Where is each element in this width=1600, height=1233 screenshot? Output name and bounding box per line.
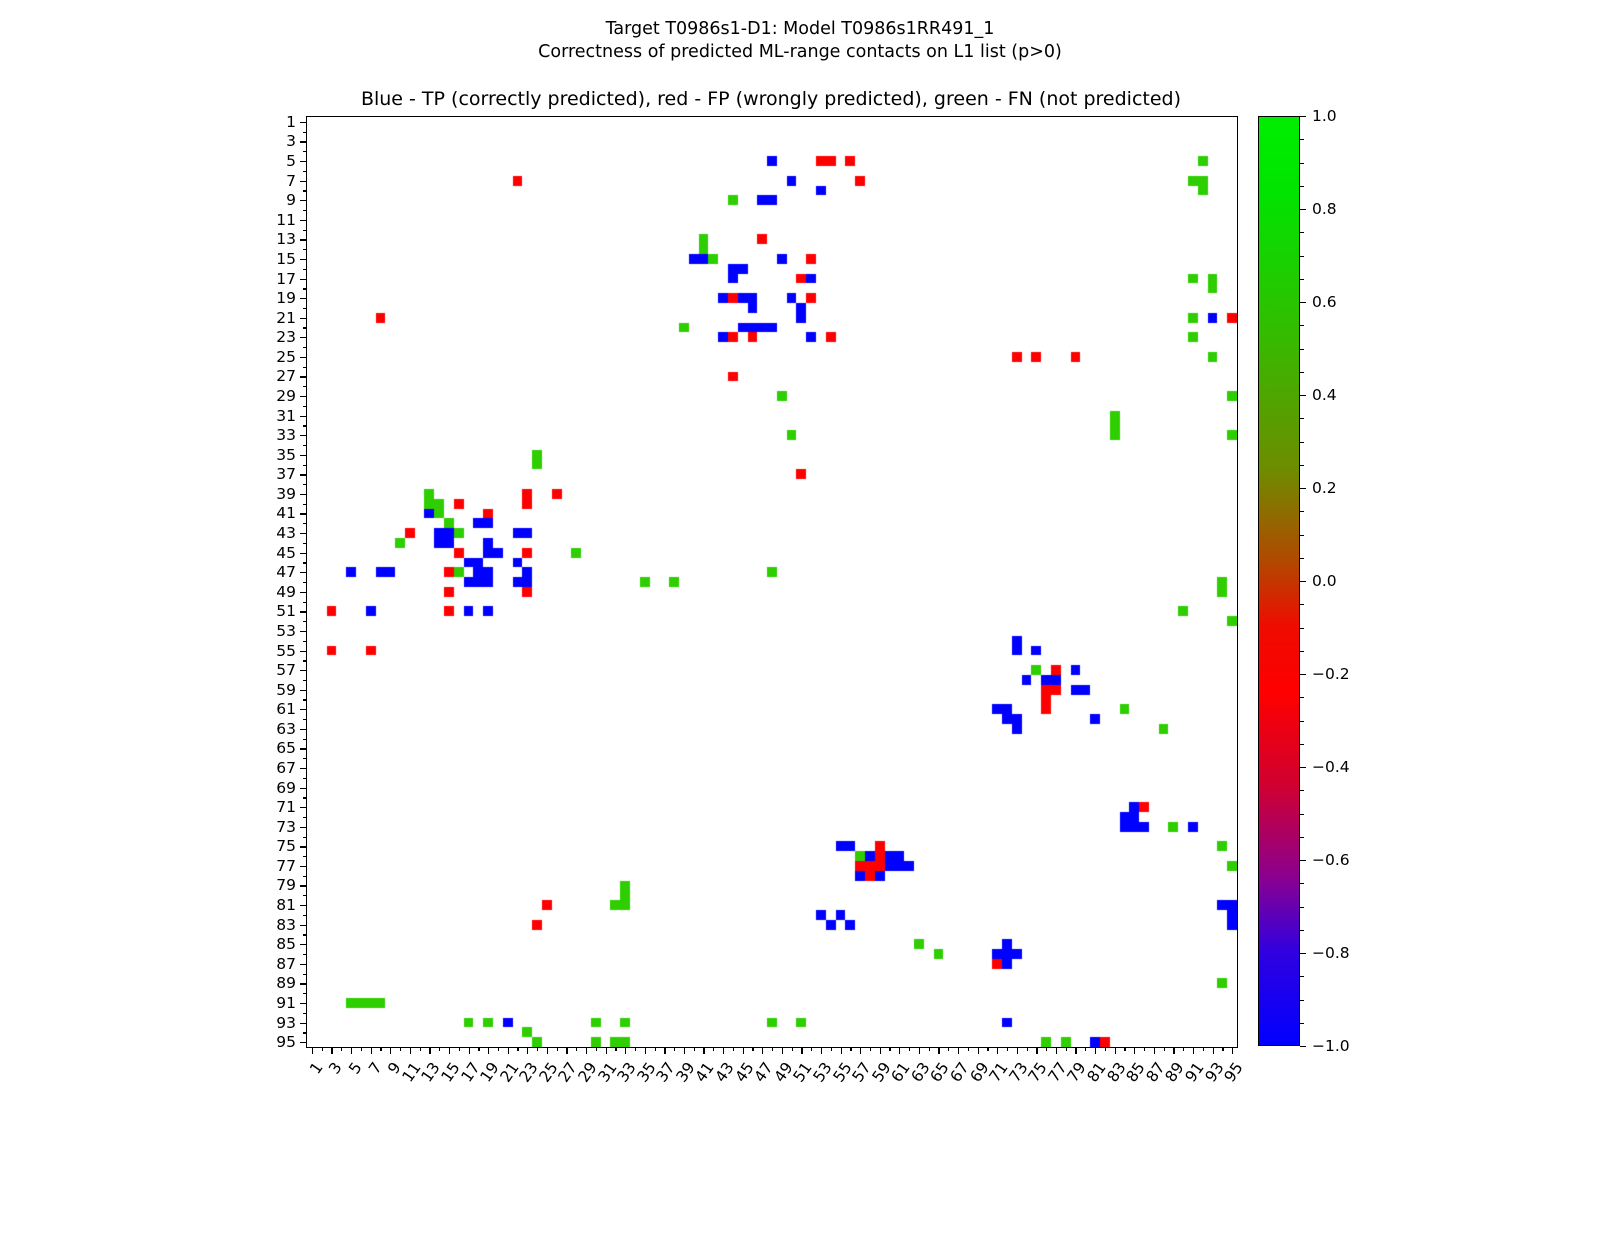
colorbar-minor-tick [1300, 651, 1304, 652]
y-axis-tick-label: 95 [276, 1033, 296, 1051]
colorbar-tick [1300, 488, 1306, 489]
x-axis-tick [625, 1047, 626, 1054]
colorbar-minor-tick [1300, 256, 1304, 257]
colorbar-minor-tick [1300, 232, 1304, 233]
y-axis-tick-label: 77 [276, 857, 296, 875]
y-axis-tick [303, 660, 307, 661]
y-axis-tick-label: 67 [276, 759, 296, 777]
x-axis-tick [478, 1047, 479, 1051]
y-axis-tick [300, 846, 307, 847]
y-axis-tick-label: 39 [276, 485, 296, 503]
y-axis-tick-label: 49 [276, 583, 296, 601]
colorbar-tick-label: 0.2 [1312, 479, 1337, 497]
y-axis-tick [303, 425, 307, 426]
x-axis-tick [1193, 1047, 1194, 1054]
y-axis-tick-label: 45 [276, 544, 296, 562]
y-axis-tick [300, 494, 307, 495]
colorbar-minor-tick [1300, 721, 1304, 722]
x-axis-tick [1154, 1047, 1155, 1054]
colorbar-tick [1300, 860, 1306, 861]
x-axis-tick [361, 1047, 362, 1051]
colorbar: 1.00.80.60.40.20.0−0.2−0.4−0.6−0.8−1.0 [1258, 116, 1300, 1046]
colorbar-tick [1300, 674, 1306, 675]
y-axis-tick [303, 797, 307, 798]
x-axis-tick [694, 1047, 695, 1051]
colorbar-tick-label: −0.2 [1312, 665, 1350, 683]
y-axis-tick-label: 79 [276, 876, 296, 894]
colorbar-tick-label: 0.6 [1312, 293, 1337, 311]
x-axis-tick [792, 1047, 793, 1051]
y-axis-tick [303, 347, 307, 348]
x-axis-tick [635, 1047, 636, 1051]
y-axis-tick [303, 288, 307, 289]
y-axis-tick [300, 709, 307, 710]
y-axis-tick [300, 690, 307, 691]
colorbar-tick [1300, 395, 1306, 396]
y-axis-tick [303, 406, 307, 407]
colorbar-minor-tick [1300, 604, 1304, 605]
colorbar-tick-label: −0.4 [1312, 758, 1350, 776]
y-axis-tick-label: 65 [276, 739, 296, 757]
y-axis-tick-label: 55 [276, 642, 296, 660]
colorbar-minor-tick [1300, 325, 1304, 326]
x-axis-tick [733, 1047, 734, 1051]
colorbar-minor-tick [1300, 535, 1304, 536]
y-axis-tick [303, 954, 307, 955]
y-axis-tick [303, 602, 307, 603]
y-axis-tick [300, 533, 307, 534]
y-axis-tick-label: 13 [276, 230, 296, 248]
y-axis-tick-label: 61 [276, 700, 296, 718]
y-axis-tick [300, 122, 307, 123]
x-axis-tick [831, 1047, 832, 1051]
y-axis-tick [300, 944, 307, 945]
x-axis-tick [517, 1047, 518, 1051]
y-axis-tick [300, 396, 307, 397]
x-axis-tick [1095, 1047, 1096, 1054]
colorbar-tick-label: −1.0 [1312, 1037, 1350, 1055]
x-axis-tick [929, 1047, 930, 1051]
x-axis-tick [978, 1047, 979, 1054]
x-axis-tick [870, 1047, 871, 1051]
y-axis-tick [300, 298, 307, 299]
y-axis-tick [303, 680, 307, 681]
x-axis-tick [782, 1047, 783, 1054]
colorbar-minor-tick [1300, 372, 1304, 373]
x-axis-tick [664, 1047, 665, 1054]
x-axis-tick [1036, 1047, 1037, 1054]
y-axis-tick-label: 91 [276, 994, 296, 1012]
x-axis-tick [811, 1047, 812, 1051]
y-axis-tick-label: 59 [276, 681, 296, 699]
y-axis-tick [300, 416, 307, 417]
x-axis-tick [576, 1047, 577, 1051]
x-axis-tick [645, 1047, 646, 1054]
y-axis-tick [303, 504, 307, 505]
figure-title-block: Target T0986s1-D1: Model T0986s1RR491_1 … [0, 18, 1600, 64]
x-axis-tick [713, 1047, 714, 1051]
y-axis-tick-label: 27 [276, 367, 296, 385]
x-axis-tick [459, 1047, 460, 1051]
colorbar-tick-label: 0.4 [1312, 386, 1337, 404]
y-axis-tick [303, 719, 307, 720]
x-axis-tick [1075, 1047, 1076, 1054]
y-axis-tick-label: 85 [276, 935, 296, 953]
figure-title-line-1: Target T0986s1-D1: Model T0986s1RR491_1 [0, 18, 1600, 41]
y-axis-tick [303, 171, 307, 172]
x-axis-tick [537, 1047, 538, 1051]
y-axis-tick [300, 827, 307, 828]
x-axis-tick [801, 1047, 802, 1054]
y-axis-tick [300, 964, 307, 965]
y-axis-tick [303, 386, 307, 387]
colorbar-minor-tick [1300, 139, 1304, 140]
colorbar-tick [1300, 1046, 1306, 1047]
y-axis-tick [300, 768, 307, 769]
x-axis-tick [1115, 1047, 1116, 1054]
x-axis-tick [420, 1047, 421, 1051]
y-axis-tick-label: 57 [276, 661, 296, 679]
colorbar-minor-tick [1300, 558, 1304, 559]
y-axis-tick [303, 915, 307, 916]
y-axis-tick [303, 837, 307, 838]
x-axis-tick [997, 1047, 998, 1054]
x-axis-tick [674, 1047, 675, 1051]
y-axis-tick [303, 621, 307, 622]
colorbar-tick [1300, 581, 1306, 582]
y-axis-tick-label: 75 [276, 837, 296, 855]
y-axis-tick [300, 651, 307, 652]
y-axis-tick-label: 71 [276, 798, 296, 816]
x-axis-tick [606, 1047, 607, 1054]
x-axis-tick [547, 1047, 548, 1054]
y-axis-tick [300, 925, 307, 926]
y-axis-tick [303, 445, 307, 446]
x-axis-tick [390, 1047, 391, 1054]
x-axis-tick [449, 1047, 450, 1054]
colorbar-minor-tick [1300, 418, 1304, 419]
x-axis-tick [1134, 1047, 1135, 1054]
y-axis-tick [303, 269, 307, 270]
contact-map-figure: Target T0986s1-D1: Model T0986s1RR491_1 … [0, 0, 1600, 1200]
y-axis-tick [300, 259, 307, 260]
y-axis-tick-label: 73 [276, 818, 296, 836]
y-axis-tick [303, 1013, 307, 1014]
x-axis-tick [723, 1047, 724, 1054]
x-axis-tick [948, 1047, 949, 1051]
y-axis-tick [300, 318, 307, 319]
colorbar-minor-tick [1300, 837, 1304, 838]
contact-map-canvas[interactable] [307, 117, 1237, 1047]
colorbar-tick [1300, 302, 1306, 303]
y-axis-tick [303, 758, 307, 759]
colorbar-gradient [1258, 116, 1300, 1046]
y-axis-tick [303, 739, 307, 740]
y-axis-tick [300, 553, 307, 554]
x-axis-tick [498, 1047, 499, 1051]
colorbar-tick [1300, 767, 1306, 768]
figure-title-line-2: Correctness of predicted ML-range contac… [0, 41, 1600, 64]
colorbar-minor-tick [1300, 790, 1304, 791]
x-axis-tick [1066, 1047, 1067, 1051]
y-axis-tick-label: 5 [286, 152, 296, 170]
x-axis-tick [1213, 1047, 1214, 1054]
y-axis-tick [303, 974, 307, 975]
x-axis-tick [703, 1047, 704, 1054]
y-axis-tick [303, 876, 307, 877]
x-axis-tick [322, 1047, 323, 1051]
colorbar-tick [1300, 209, 1306, 210]
y-axis-tick [303, 856, 307, 857]
x-axis-tick [743, 1047, 744, 1054]
x-axis-tick [439, 1047, 440, 1051]
colorbar-tick-label: −0.6 [1312, 851, 1350, 869]
y-axis-tick [300, 141, 307, 142]
x-axis-tick [958, 1047, 959, 1054]
y-axis-tick [300, 592, 307, 593]
x-axis-tick [1105, 1047, 1106, 1051]
x-axis-tick [987, 1047, 988, 1051]
colorbar-tick-label: −0.8 [1312, 944, 1350, 962]
x-axis-tick [1232, 1047, 1233, 1054]
colorbar-minor-tick [1300, 186, 1304, 187]
x-axis-tick [596, 1047, 597, 1051]
y-axis-tick-label: 53 [276, 622, 296, 640]
y-axis-tick [300, 200, 307, 201]
y-axis-tick [303, 210, 307, 211]
x-axis-tick [841, 1047, 842, 1054]
x-axis-tick [380, 1047, 381, 1051]
y-axis-tick [303, 934, 307, 935]
y-axis-tick [303, 582, 307, 583]
colorbar-minor-tick [1300, 907, 1304, 908]
y-axis-tick-label: 7 [286, 172, 296, 190]
x-axis-tick [968, 1047, 969, 1051]
y-axis-tick [300, 1042, 307, 1043]
colorbar-minor-tick [1300, 511, 1304, 512]
colorbar-tick-label: 1.0 [1312, 107, 1337, 125]
y-axis-tick [303, 699, 307, 700]
y-axis-tick-label: 9 [286, 191, 296, 209]
y-axis-tick-label: 93 [276, 1014, 296, 1032]
x-axis-tick [880, 1047, 881, 1054]
x-axis-tick [762, 1047, 763, 1054]
y-axis-tick [303, 151, 307, 152]
y-axis-tick [300, 905, 307, 906]
y-axis-tick [300, 455, 307, 456]
y-axis-tick-label: 23 [276, 328, 296, 346]
y-axis-tick [303, 895, 307, 896]
y-axis-tick-label: 29 [276, 387, 296, 405]
y-axis-tick [303, 1032, 307, 1033]
y-axis-tick-label: 69 [276, 779, 296, 797]
x-axis-tick [889, 1047, 890, 1051]
y-axis-tick [303, 230, 307, 231]
colorbar-minor-tick [1300, 883, 1304, 884]
y-axis-tick [303, 190, 307, 191]
x-axis-tick [684, 1047, 685, 1054]
colorbar-tick-label: 0.0 [1312, 572, 1337, 590]
y-axis-tick-label: 89 [276, 974, 296, 992]
colorbar-minor-tick [1300, 349, 1304, 350]
y-axis-tick-label: 3 [286, 132, 296, 150]
y-axis-tick-label: 31 [276, 407, 296, 425]
y-axis-tick [303, 562, 307, 563]
x-axis-tick [1017, 1047, 1018, 1054]
colorbar-minor-tick [1300, 465, 1304, 466]
x-axis-tick [508, 1047, 509, 1054]
y-axis-tick-label: 63 [276, 720, 296, 738]
y-axis-tick [300, 337, 307, 338]
x-axis-tick [909, 1047, 910, 1051]
x-axis-tick [400, 1047, 401, 1051]
y-axis-tick [300, 220, 307, 221]
y-axis-tick [300, 572, 307, 573]
x-axis-tick [1144, 1047, 1145, 1051]
x-axis-tick [1183, 1047, 1184, 1051]
x-axis-tick [1222, 1047, 1223, 1051]
colorbar-minor-tick [1300, 976, 1304, 977]
colorbar-minor-tick [1300, 1000, 1304, 1001]
axes-legend-title: Blue - TP (correctly predicted), red - F… [306, 88, 1236, 110]
y-axis-tick-label: 21 [276, 309, 296, 327]
y-axis-tick [303, 543, 307, 544]
x-axis-tick [1056, 1047, 1057, 1054]
colorbar-minor-tick [1300, 163, 1304, 164]
x-axis-tick [752, 1047, 753, 1051]
x-axis-tick [331, 1047, 332, 1054]
x-axis-tick [919, 1047, 920, 1054]
y-axis-tick [300, 474, 307, 475]
x-axis-tick [1124, 1047, 1125, 1051]
x-axis-tick [312, 1047, 313, 1054]
x-axis-tick [527, 1047, 528, 1054]
x-axis-tick [821, 1047, 822, 1054]
y-axis-tick [300, 1003, 307, 1004]
y-axis-tick [303, 367, 307, 368]
y-axis-tick-label: 41 [276, 504, 296, 522]
colorbar-tick [1300, 953, 1306, 954]
colorbar-minor-tick [1300, 628, 1304, 629]
y-axis-tick-label: 17 [276, 270, 296, 288]
y-axis-tick [300, 748, 307, 749]
y-axis-tick-label: 81 [276, 896, 296, 914]
y-axis-tick [300, 435, 307, 436]
y-axis-tick [300, 670, 307, 671]
y-axis-tick [300, 729, 307, 730]
y-axis-tick [300, 788, 307, 789]
y-axis-tick [303, 132, 307, 133]
colorbar-minor-tick [1300, 279, 1304, 280]
y-axis-tick-label: 51 [276, 602, 296, 620]
y-axis-tick [300, 611, 307, 612]
x-axis-tick [341, 1047, 342, 1051]
x-axis-tick [615, 1047, 616, 1051]
y-axis-tick [300, 161, 307, 162]
y-axis-tick [303, 484, 307, 485]
y-axis-tick-label: 37 [276, 465, 296, 483]
y-axis-tick-label: 11 [276, 211, 296, 229]
x-axis-tick [586, 1047, 587, 1054]
y-axis-tick [303, 817, 307, 818]
y-axis-tick-label: 25 [276, 348, 296, 366]
y-axis-tick [303, 641, 307, 642]
colorbar-minor-tick [1300, 697, 1304, 698]
y-axis-tick [303, 465, 307, 466]
y-axis-tick-label: 83 [276, 916, 296, 934]
y-axis-tick [300, 1023, 307, 1024]
x-axis-tick [1164, 1047, 1165, 1051]
y-axis-tick [303, 327, 307, 328]
x-axis-tick [1046, 1047, 1047, 1051]
y-axis-tick [300, 866, 307, 867]
x-axis-tick [655, 1047, 656, 1051]
colorbar-tick [1300, 116, 1306, 117]
y-axis-tick [300, 279, 307, 280]
y-axis-tick [303, 523, 307, 524]
x-axis-tick [772, 1047, 773, 1051]
x-axis-tick [1173, 1047, 1174, 1054]
y-axis-tick-label: 1 [286, 113, 296, 131]
y-axis-tick [303, 993, 307, 994]
y-axis-tick-label: 47 [276, 563, 296, 581]
x-axis-tick [1203, 1047, 1204, 1051]
x-axis-tick [371, 1047, 372, 1054]
x-axis-tick [566, 1047, 567, 1054]
y-axis-tick-label: 87 [276, 955, 296, 973]
y-axis-tick [300, 376, 307, 377]
y-axis-tick-label: 35 [276, 446, 296, 464]
x-axis-tick [1027, 1047, 1028, 1051]
colorbar-minor-tick [1300, 930, 1304, 931]
x-axis-tick [557, 1047, 558, 1051]
contact-map-plot-area[interactable]: 1357911131517192123252729313335373941434… [306, 116, 1238, 1048]
x-axis-tick [1007, 1047, 1008, 1051]
y-axis-tick [300, 631, 307, 632]
y-axis-tick [303, 778, 307, 779]
x-axis-tick [429, 1047, 430, 1054]
x-axis-tick [850, 1047, 851, 1051]
colorbar-minor-tick [1300, 744, 1304, 745]
x-axis-tick [410, 1047, 411, 1054]
x-axis-tick [899, 1047, 900, 1054]
y-axis-tick [300, 983, 307, 984]
y-axis-tick [300, 885, 307, 886]
y-axis-tick-label: 15 [276, 250, 296, 268]
y-axis-tick [300, 807, 307, 808]
x-axis-tick [938, 1047, 939, 1054]
colorbar-minor-tick [1300, 814, 1304, 815]
y-axis-tick [303, 308, 307, 309]
y-axis-tick [300, 181, 307, 182]
x-axis-tick [860, 1047, 861, 1054]
x-axis-tick [469, 1047, 470, 1054]
colorbar-tick-label: 0.8 [1312, 200, 1337, 218]
y-axis-tick [300, 513, 307, 514]
colorbar-minor-tick [1300, 442, 1304, 443]
y-axis-tick [300, 239, 307, 240]
y-axis-tick-label: 33 [276, 426, 296, 444]
x-axis-tick [1085, 1047, 1086, 1051]
y-axis-tick [300, 357, 307, 358]
x-axis-tick [351, 1047, 352, 1054]
y-axis-tick-label: 43 [276, 524, 296, 542]
y-axis-tick-label: 19 [276, 289, 296, 307]
colorbar-minor-tick [1300, 1023, 1304, 1024]
x-axis-tick [488, 1047, 489, 1054]
y-axis-tick [303, 249, 307, 250]
